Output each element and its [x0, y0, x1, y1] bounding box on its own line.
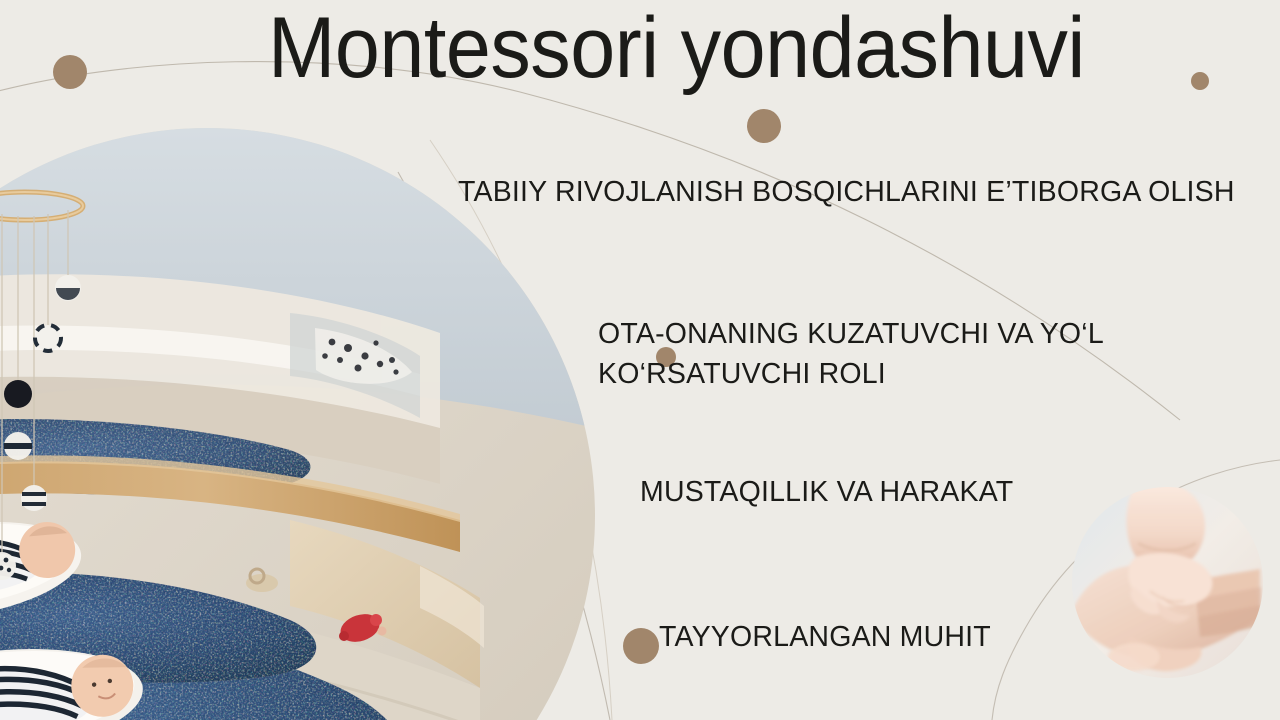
dot-bullet-4: [623, 628, 659, 664]
baby-on-play-mat-photo: [0, 128, 595, 720]
slide-title: Montessori yondashuvi: [268, 2, 1085, 95]
presentation-slide: Montessori yondashuvi TABIIY RIVOJLANISH…: [0, 0, 1280, 720]
bullet-item-2: OTA-ONANING KUZATUVCHI VA YO‘L KO‘RSATUV…: [598, 314, 1158, 395]
baby-on-play-mat-photo-art: [0, 128, 595, 720]
bullet-item-1: TABIIY RIVOJLANISH BOSQICHLARINI E’TIBOR…: [458, 172, 1280, 212]
bullet-item-3: MUSTAQILLIK VA HARAKAT: [640, 472, 1160, 512]
dot-top-right: [1191, 72, 1209, 90]
bullet-item-4: TAYYORLANGAN MUHIT: [659, 617, 1179, 657]
dot-top-left: [53, 55, 87, 89]
dot-under-title: [747, 109, 781, 143]
